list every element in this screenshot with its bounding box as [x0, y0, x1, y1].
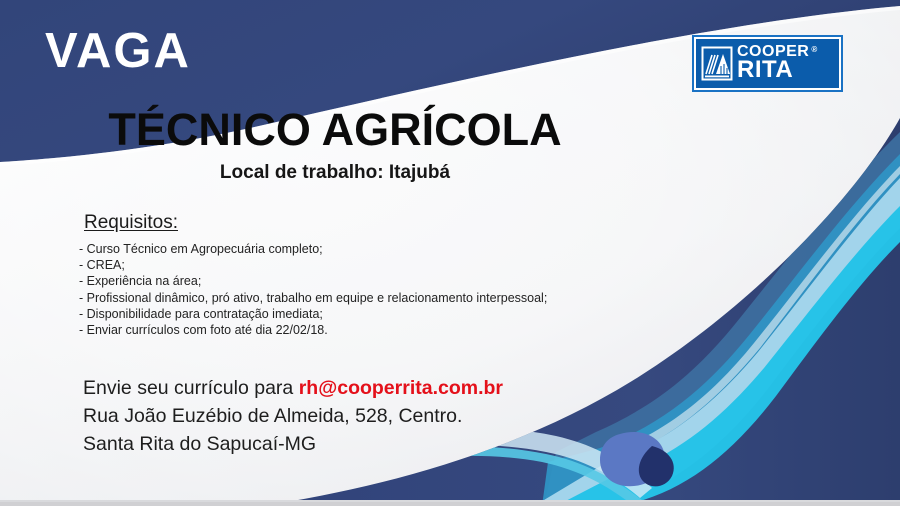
dam-triangle-icon — [701, 46, 733, 81]
page-title-vaga: VAGA — [45, 27, 191, 76]
requirements-heading: Requisitos: — [84, 212, 178, 234]
contact-email-link[interactable]: rh@cooperrita.com.br — [299, 377, 503, 399]
requirements-list: - Curso Técnico em Agropecuária completo… — [79, 241, 699, 338]
list-item: - Disponibilidade para contratação imedi… — [79, 306, 699, 322]
job-title: TÉCNICO AGRÍCOLA — [0, 106, 670, 153]
contact-intro-text: Envie seu currículo para — [83, 377, 299, 399]
list-item: - Profissional dinâmico, pró ativo, trab… — [79, 290, 699, 306]
contact-address-line: Rua João Euzébio de Almeida, 528, Centro… — [83, 402, 603, 430]
list-item: - CREA; — [79, 257, 699, 273]
registered-trademark-icon: ® — [811, 46, 817, 54]
contact-email-line: Envie seu currículo para rh@cooperrita.c… — [83, 374, 603, 402]
job-location: Local de trabalho: Itajubá — [0, 162, 670, 184]
contact-block: Envie seu currículo para rh@cooperrita.c… — [83, 374, 603, 458]
list-item: - Experiência na área; — [79, 273, 699, 289]
cooper-rita-logo: COOPER ® RITA — [692, 35, 843, 92]
logo-text-rita: RITA — [737, 59, 818, 81]
job-posting-poster: VAGA COOPER — [0, 0, 900, 506]
contact-city-line: Santa Rita do Sapucaí-MG — [83, 430, 603, 458]
list-item: - Curso Técnico em Agropecuária completo… — [79, 241, 699, 257]
list-item: - Enviar currículos com foto até dia 22/… — [79, 322, 699, 338]
